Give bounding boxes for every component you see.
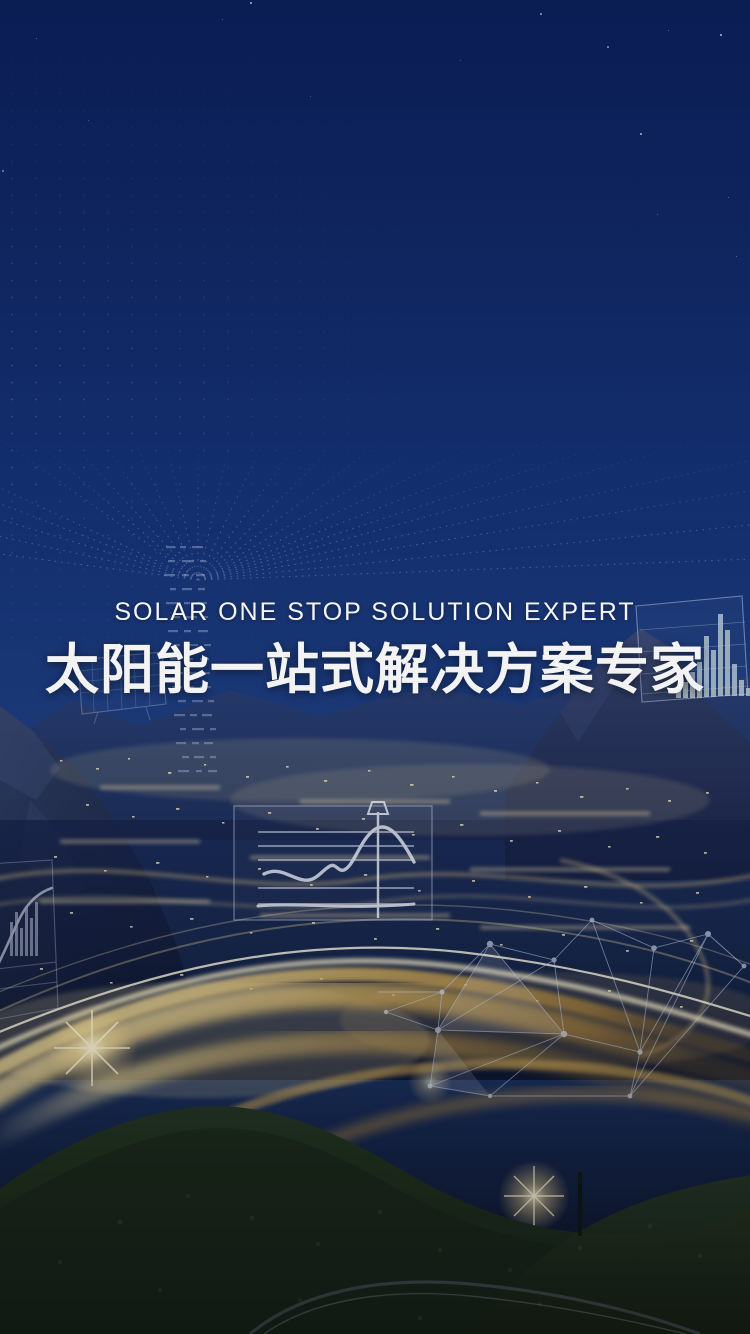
pole-silhouette [578, 1172, 582, 1236]
page-title: 太阳能一站式解决方案专家 [0, 641, 750, 699]
hero-text-block: SOLAR ONE STOP SOLUTION EXPERT 太阳能一站式解决方… [0, 600, 750, 699]
hero-banner: SOLAR ONE STOP SOLUTION EXPERT 太阳能一站式解决方… [0, 0, 750, 1334]
hero-subtitle: SOLAR ONE STOP SOLUTION EXPERT [0, 600, 750, 625]
